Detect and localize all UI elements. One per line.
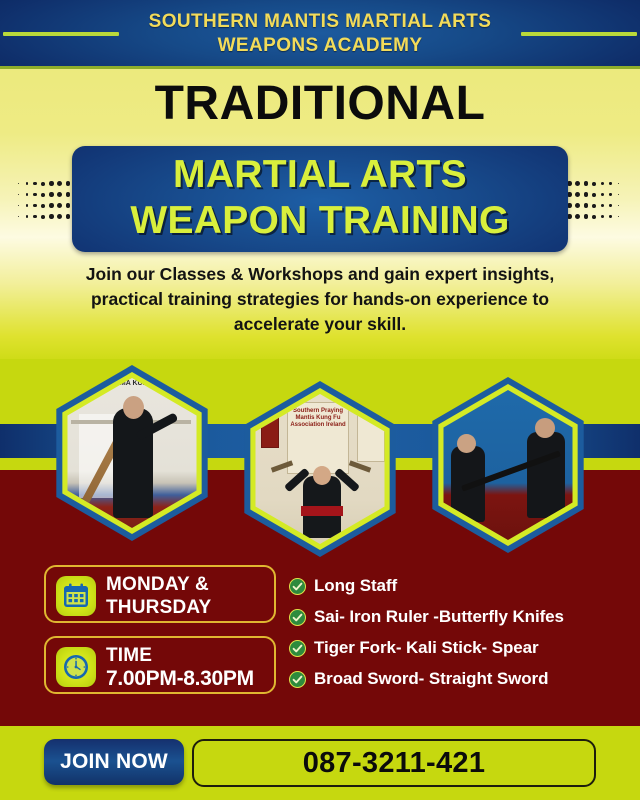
list-item: Broad Sword- Straight Sword — [289, 665, 619, 696]
calendar-icon — [56, 576, 96, 616]
clock-icon — [56, 647, 96, 687]
weapon-label: Tiger Fork- Kali Stick- Spear — [314, 636, 538, 660]
check-circle-icon — [289, 578, 306, 595]
banner-text: Southern Praying Mantis Kung Fu Associat… — [287, 408, 349, 429]
weapons-list: Long Staff Sai- Iron Ruler -Butterfly Kn… — [289, 572, 619, 696]
staff-sparring-photo — [433, 390, 583, 540]
join-now-button[interactable]: JOIN NOW — [44, 739, 184, 785]
check-circle-icon — [289, 640, 306, 657]
weapon-label: Sai- Iron Ruler -Butterfly Knifes — [314, 605, 564, 629]
schedule-days-line2: THURSDAY — [106, 596, 274, 619]
check-circle-icon — [289, 609, 306, 626]
schedule-days-line1: MONDAY & — [106, 573, 274, 596]
schedule-time-label: TIME — [106, 644, 274, 667]
join-now-label: JOIN NOW — [60, 750, 168, 774]
poster-footer: JOIN NOW 087-3211-421 — [0, 726, 640, 800]
weapon-label: Broad Sword- Straight Sword — [314, 667, 548, 691]
butterfly-knife-right-icon — [349, 460, 371, 472]
list-item: Long Staff — [289, 572, 619, 603]
hero-title-line1: MARTIAL ARTS — [72, 152, 568, 198]
butterfly-knives-photo: Southern Praying Mantis Kung Fu Associat… — [245, 394, 395, 544]
academy-name-line1: SOUTHERN MANTIS MARTIAL ARTS — [0, 12, 640, 32]
weapon-label: Long Staff — [314, 574, 397, 598]
schedule-card-days[interactable]: MONDAY & THURSDAY — [44, 565, 276, 623]
hero-kicker: TRADITIONAL — [0, 78, 640, 130]
check-circle-icon — [289, 671, 306, 688]
poster-root: SOUTHERN MANTIS MARTIAL ARTS WEAPONS ACA… — [0, 0, 640, 800]
phone-number-box[interactable]: 087-3211-421 — [192, 739, 596, 787]
hero-blurb: Join our Classes & Workshops and gain ex… — [58, 262, 582, 337]
phone-number: 087-3211-421 — [303, 747, 486, 780]
poster-header: SOUTHERN MANTIS MARTIAL ARTS WEAPONS ACA… — [0, 0, 640, 66]
academy-name-line2: WEAPONS ACADEMY — [0, 36, 640, 56]
hero-title-line2: WEAPON TRAINING — [72, 198, 568, 244]
list-item: Sai- Iron Ruler -Butterfly Knifes — [289, 603, 619, 634]
staff-pose-photo: JING MA KUNG FU — [57, 378, 207, 528]
list-item: Tiger Fork- Kali Stick- Spear — [289, 634, 619, 665]
schedule-card-time[interactable]: TIME 7.00PM-8.30PM — [44, 636, 276, 694]
hero-title-box: MARTIAL ARTS WEAPON TRAINING — [72, 146, 568, 252]
schedule-time-value: 7.00PM-8.30PM — [106, 667, 274, 690]
